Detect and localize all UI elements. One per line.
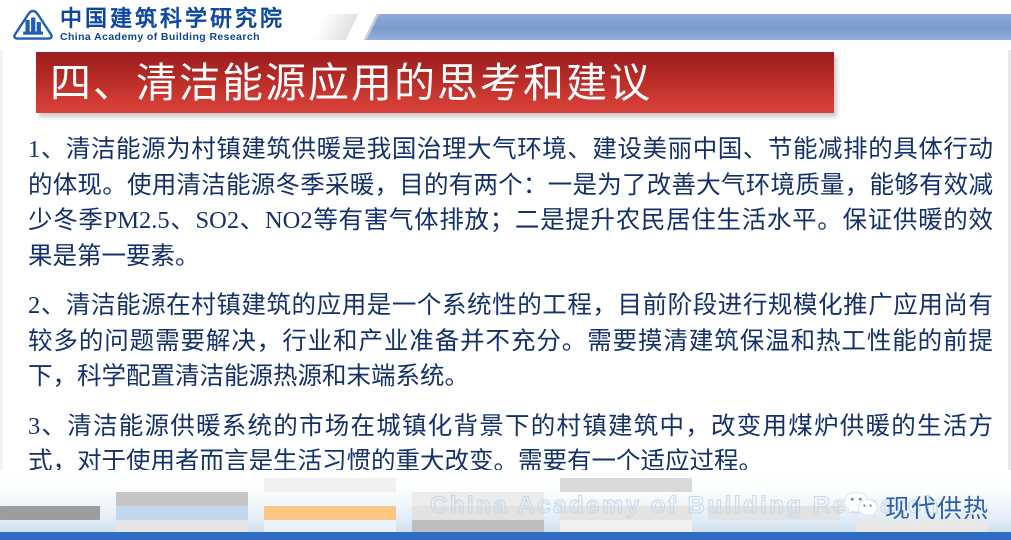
section-title-band: 四、清洁能源应用的思考和建议 <box>36 52 834 113</box>
wechat-icon <box>843 490 879 525</box>
slide: 中国建筑科学研究院 China Academy of Building Rese… <box>0 0 1011 540</box>
cabr-building-logo-icon <box>10 9 56 41</box>
slide-footer: China Academy of Building Research 现代供热 <box>0 470 1011 540</box>
footer-accent-bar <box>0 532 1011 540</box>
footer-decorative-blocks <box>0 470 345 532</box>
footer-block <box>116 492 248 506</box>
wechat-account-name: 现代供热 <box>885 489 989 525</box>
body-paragraph-3: 3、清洁能源供暖系统的市场在城镇化背景下的村镇建筑中，改变用煤炉供暖的生活方式，… <box>28 409 993 480</box>
org-name-cn: 中国建筑科学研究院 <box>60 6 330 31</box>
wechat-account-badge: 现代供热 <box>843 488 1003 526</box>
footer-block <box>560 478 692 492</box>
page-title: 四、清洁能源应用的思考和建议 <box>50 56 652 110</box>
slide-left-border <box>0 0 3 540</box>
org-identity: 中国建筑科学研究院 China Academy of Building Rese… <box>60 6 330 46</box>
footer-block <box>0 506 100 520</box>
header-blue-band <box>355 14 1011 40</box>
footer-block <box>264 478 396 492</box>
slide-header: 中国建筑科学研究院 China Academy of Building Rese… <box>0 0 1011 50</box>
body-paragraph-1: 1、清洁能源为村镇建筑供暖是我国治理大气环境、建设美丽中国、节能减排的具体行动的… <box>28 132 993 274</box>
body-paragraph-2: 2、清洁能源在村镇建筑的应用是一个系统性的工程，目前阶段进行规模化推广应用尚有较… <box>28 288 993 395</box>
org-name-en: China Academy of Building Research <box>60 31 330 44</box>
slide-body: 1、清洁能源为村镇建筑供暖是我国治理大气环境、建设美丽中国、节能减排的具体行动的… <box>28 132 993 462</box>
footer-block <box>116 506 248 520</box>
footer-block <box>264 506 396 520</box>
